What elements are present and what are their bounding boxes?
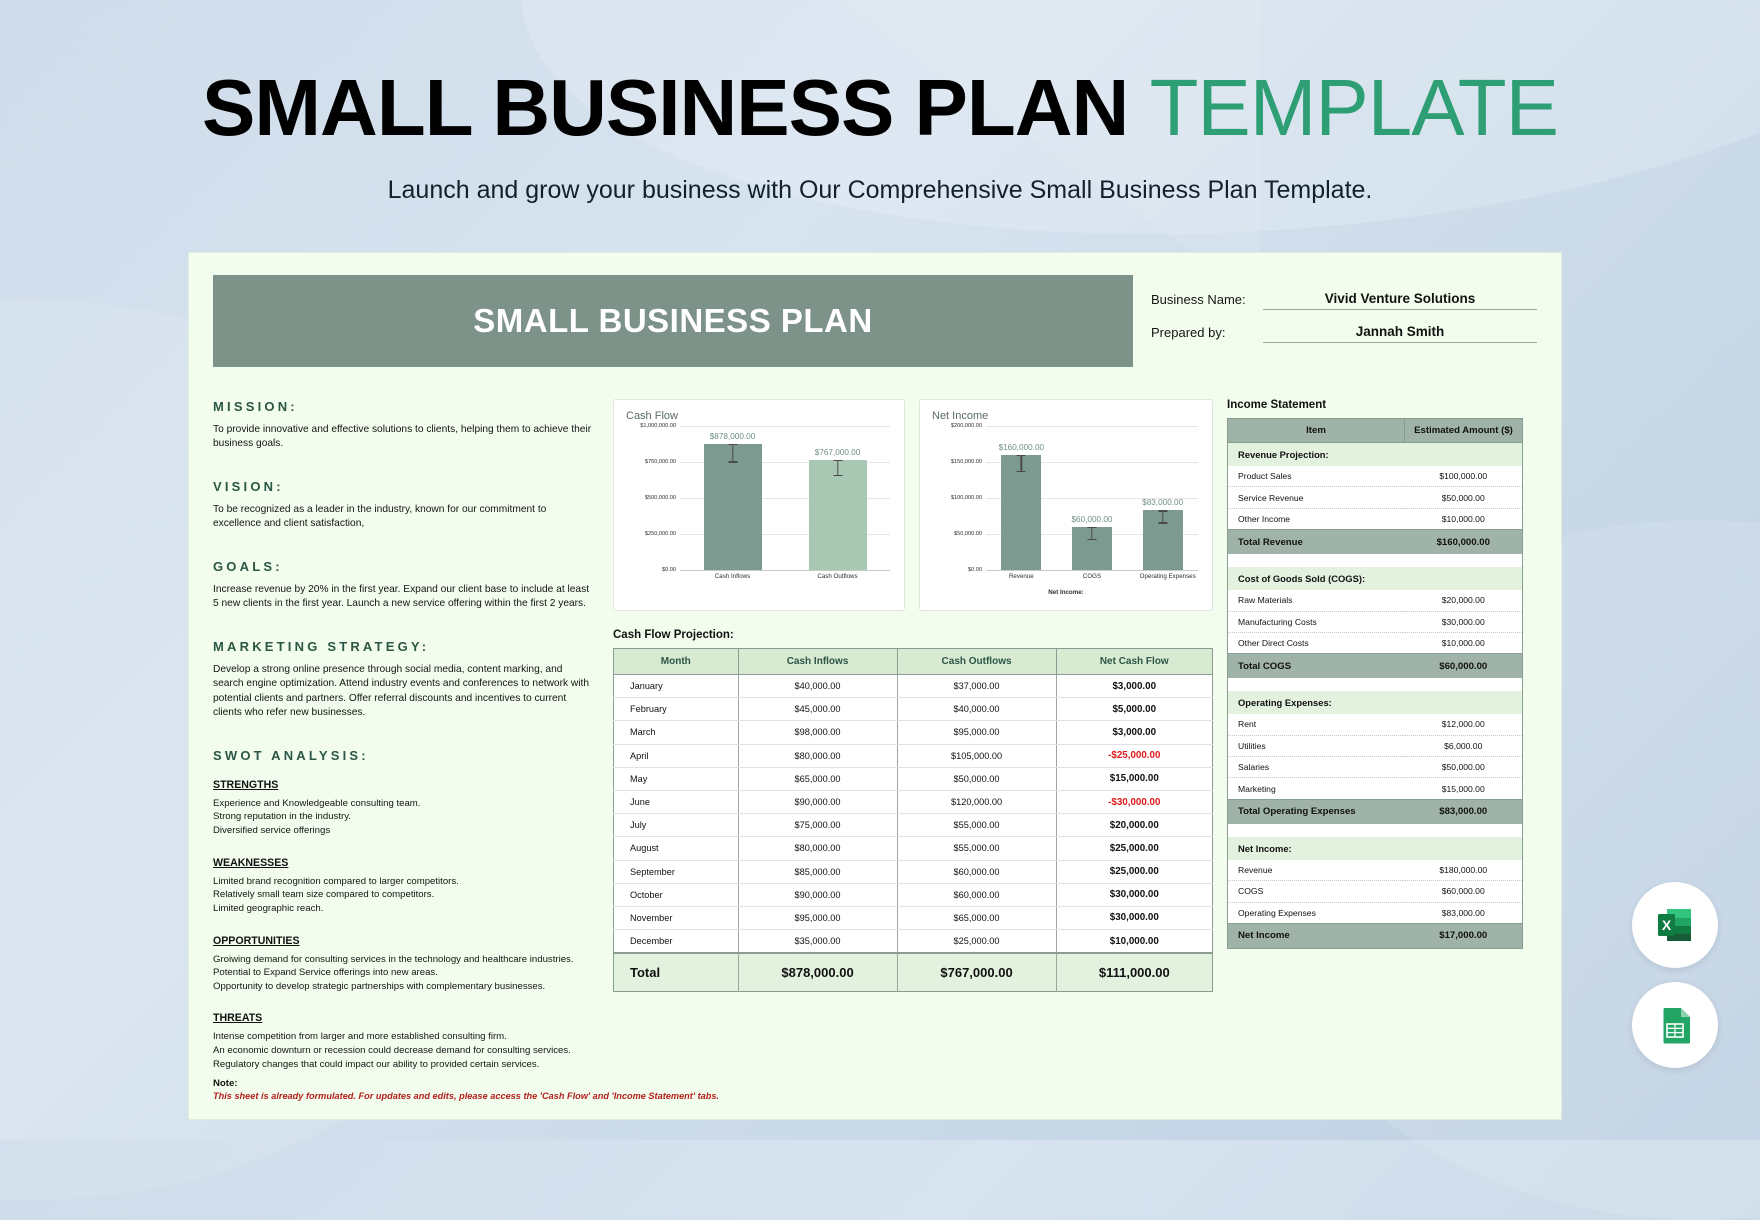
column-header-0: Month bbox=[614, 649, 739, 675]
row-label: Cost of Goods Sold (COGS): bbox=[1228, 567, 1523, 590]
x-axis-tick-label: Cash Inflows bbox=[704, 573, 762, 580]
bar-wrapper: $60,000.00 bbox=[1072, 426, 1112, 570]
row-amount: $50,000.00 bbox=[1405, 487, 1523, 508]
table-row[interactable]: Other Direct Costs$10,000.00 bbox=[1228, 632, 1523, 653]
net-income-chart-xlabel: Net Income: bbox=[932, 589, 1200, 596]
row-label: Raw Materials bbox=[1228, 590, 1405, 611]
table-row[interactable]: February$45,000.00$40,000.00$5,000.00 bbox=[614, 698, 1213, 721]
table-row[interactable]: COGS$60,000.00 bbox=[1228, 881, 1523, 902]
row-amount: $10,000.00 bbox=[1405, 632, 1523, 653]
table-cell: $45,000.00 bbox=[738, 698, 897, 721]
sheets-icon bbox=[1653, 1003, 1697, 1047]
table-cell: $95,000.00 bbox=[897, 721, 1056, 744]
table-row[interactable]: Revenue$180,000.00 bbox=[1228, 860, 1523, 881]
row-amount: $30,000.00 bbox=[1405, 611, 1523, 632]
table-row[interactable]: June$90,000.00$120,000.00-$30,000.00 bbox=[614, 790, 1213, 813]
svg-text:X: X bbox=[1662, 917, 1672, 933]
y-axis-tick-label: $50,000.00 bbox=[954, 531, 982, 537]
table-row[interactable]: December$35,000.00$25,000.00$10,000.00 bbox=[614, 930, 1213, 954]
row-label: Revenue Projection: bbox=[1228, 443, 1523, 467]
swot-strengths-body: Experience and Knowledgeable consulting … bbox=[213, 797, 595, 838]
table-cell: $90,000.00 bbox=[738, 883, 897, 906]
row-label: Salaries bbox=[1228, 757, 1405, 778]
swot-weaknesses-heading: WEAKNESSES bbox=[213, 857, 595, 869]
spacer-row bbox=[1228, 824, 1523, 837]
x-axis-tick-label: Revenue bbox=[998, 573, 1044, 580]
spacer-cell bbox=[1228, 554, 1523, 567]
table-cell: $60,000.00 bbox=[897, 860, 1056, 883]
table-total-row: Total$878,000.00$767,000.00$111,000.00 bbox=[614, 953, 1213, 992]
bar-group: $878,000.00$767,000.00 bbox=[680, 426, 890, 570]
row-amount: $20,000.00 bbox=[1405, 590, 1523, 611]
row-label: Marketing bbox=[1228, 778, 1405, 799]
sheet-note: Note: This sheet is already formulated. … bbox=[213, 1078, 719, 1101]
table-cell: October bbox=[614, 883, 739, 906]
row-label: Net Income: bbox=[1228, 837, 1523, 860]
bar[interactable]: $160,000.00 bbox=[1001, 455, 1041, 570]
row-amount: $50,000.00 bbox=[1405, 757, 1523, 778]
row-amount: $160,000.00 bbox=[1405, 530, 1523, 555]
table-cell: $35,000.00 bbox=[738, 930, 897, 954]
spacer-cell bbox=[1228, 678, 1523, 691]
spacer-row bbox=[1228, 678, 1523, 691]
table-cell: September bbox=[614, 860, 739, 883]
table-cell: July bbox=[614, 814, 739, 837]
table-row[interactable]: April$80,000.00$105,000.00-$25,000.00 bbox=[614, 744, 1213, 767]
note-body: This sheet is already formulated. For up… bbox=[213, 1091, 719, 1101]
table-cell: April bbox=[614, 744, 739, 767]
table-cell: $20,000.00 bbox=[1056, 814, 1212, 837]
table-row[interactable]: Rent$12,000.00 bbox=[1228, 714, 1523, 735]
row-label: Product Sales bbox=[1228, 466, 1405, 487]
swot-threats-heading: THREATS bbox=[213, 1012, 595, 1024]
table-total-cell: $111,000.00 bbox=[1056, 953, 1212, 992]
error-bar-cap bbox=[1017, 471, 1026, 472]
bar-group: $160,000.00$60,000.00$83,000.00 bbox=[986, 426, 1198, 570]
table-cell: $105,000.00 bbox=[897, 744, 1056, 767]
group-row: Net Income: bbox=[1228, 837, 1523, 860]
spacer-row bbox=[1228, 554, 1523, 567]
table-row[interactable]: July$75,000.00$55,000.00$20,000.00 bbox=[614, 814, 1213, 837]
swot-weaknesses-body: Limited brand recognition compared to la… bbox=[213, 875, 595, 916]
y-axis-tick-label: $500,000.00 bbox=[645, 495, 676, 501]
income-statement-col-item: Item bbox=[1228, 419, 1405, 443]
table-row[interactable]: November$95,000.00$65,000.00$30,000.00 bbox=[614, 906, 1213, 929]
table-row[interactable]: Other Income$10,000.00 bbox=[1228, 508, 1523, 529]
row-label: COGS bbox=[1228, 881, 1405, 902]
bar-data-label: $160,000.00 bbox=[999, 443, 1045, 452]
note-heading: Note: bbox=[213, 1078, 719, 1089]
business-name-value[interactable]: Vivid Venture Solutions bbox=[1263, 291, 1537, 310]
error-bar-cap bbox=[833, 460, 842, 461]
income-statement-title: Income Statement bbox=[1227, 399, 1523, 411]
vision-body: To be recognized as a leader in the indu… bbox=[213, 503, 595, 532]
table-cell: $65,000.00 bbox=[738, 767, 897, 790]
error-bar-cap bbox=[728, 461, 737, 462]
charts-and-projection-column: Cash Flow $0.00$250,000.00$500,000.00$75… bbox=[613, 399, 1213, 1090]
y-axis-tick-label: $1,000,000.00 bbox=[640, 423, 676, 429]
error-bar-cap bbox=[1158, 522, 1167, 523]
table-row[interactable]: Operating Expenses$83,000.00 bbox=[1228, 902, 1523, 923]
table-cell: November bbox=[614, 906, 739, 929]
table-total-cell: Total bbox=[614, 953, 739, 992]
table-cell: $30,000.00 bbox=[1056, 883, 1212, 906]
meta-row-prepared-by: Prepared by: Jannah Smith bbox=[1151, 324, 1537, 343]
group-row: Cost of Goods Sold (COGS): bbox=[1228, 567, 1523, 590]
cash-flow-projection-title: Cash Flow Projection: bbox=[613, 629, 1213, 641]
total-row: Total COGS$60,000.00 bbox=[1228, 654, 1523, 679]
table-row[interactable]: January$40,000.00$37,000.00$3,000.00 bbox=[614, 675, 1213, 698]
table-row[interactable]: Service Revenue$50,000.00 bbox=[1228, 487, 1523, 508]
swot-strengths-heading: STRENGTHS bbox=[213, 779, 595, 791]
row-label: Operating Expenses: bbox=[1228, 691, 1523, 714]
bar-wrapper: $83,000.00 bbox=[1143, 426, 1183, 570]
table-total-cell: $878,000.00 bbox=[738, 953, 897, 992]
error-bar-cap bbox=[1087, 539, 1096, 540]
bar-data-label: $60,000.00 bbox=[1071, 515, 1112, 524]
row-label: Revenue bbox=[1228, 860, 1405, 881]
error-bar-cap bbox=[1158, 510, 1167, 511]
excel-icon: X bbox=[1653, 903, 1697, 947]
table-cell: August bbox=[614, 837, 739, 860]
row-label: Other Direct Costs bbox=[1228, 632, 1405, 653]
cash-flow-chart-title: Cash Flow bbox=[626, 410, 892, 422]
table-cell: $85,000.00 bbox=[738, 860, 897, 883]
error-bar bbox=[732, 444, 733, 462]
error-bar bbox=[837, 460, 838, 475]
banner-title-accent: TEMPLATE bbox=[1150, 63, 1558, 152]
business-name-label: Business Name: bbox=[1151, 292, 1263, 310]
row-label: Operating Expenses bbox=[1228, 902, 1405, 923]
error-bar bbox=[1021, 455, 1022, 471]
excel-icon-button[interactable]: X bbox=[1632, 882, 1718, 968]
error-bar bbox=[1091, 527, 1092, 539]
row-amount: $10,000.00 bbox=[1405, 508, 1523, 529]
table-cell: December bbox=[614, 930, 739, 954]
table-row[interactable]: Product Sales$100,000.00 bbox=[1228, 466, 1523, 487]
row-label: Other Income bbox=[1228, 508, 1405, 529]
table-row[interactable]: May$65,000.00$50,000.00$15,000.00 bbox=[614, 767, 1213, 790]
banner-title: SMALL BUSINESS PLAN TEMPLATE bbox=[0, 68, 1760, 148]
swot-analysis-title: SWOT ANALYSIS: bbox=[213, 748, 595, 763]
table-cell: $55,000.00 bbox=[897, 837, 1056, 860]
table-cell: $3,000.00 bbox=[1056, 721, 1212, 744]
total-row: Total Revenue$160,000.00 bbox=[1228, 530, 1523, 555]
bar[interactable]: $878,000.00 bbox=[704, 444, 762, 570]
y-axis-tick-label: $150,000.00 bbox=[951, 459, 982, 465]
table-cell: $40,000.00 bbox=[738, 675, 897, 698]
y-axis-tick-label: $100,000.00 bbox=[951, 495, 982, 501]
bar[interactable]: $767,000.00 bbox=[809, 460, 867, 570]
bar-wrapper: $767,000.00 bbox=[809, 426, 867, 570]
y-axis-tick-label: $0.00 bbox=[662, 567, 676, 573]
table-cell: $80,000.00 bbox=[738, 837, 897, 860]
table-cell: $80,000.00 bbox=[738, 744, 897, 767]
prepared-by-value[interactable]: Jannah Smith bbox=[1263, 324, 1537, 343]
table-cell: $50,000.00 bbox=[897, 767, 1056, 790]
row-label: Total Operating Expenses bbox=[1228, 799, 1405, 824]
table-cell: $10,000.00 bbox=[1056, 930, 1212, 954]
error-bar-cap bbox=[833, 475, 842, 476]
row-label: Total Revenue bbox=[1228, 530, 1405, 555]
row-amount: $12,000.00 bbox=[1405, 714, 1523, 735]
y-axis-tick-label: $750,000.00 bbox=[645, 459, 676, 465]
table-row[interactable]: October$90,000.00$60,000.00$30,000.00 bbox=[614, 883, 1213, 906]
table-cell: $40,000.00 bbox=[897, 698, 1056, 721]
row-amount: $17,000.00 bbox=[1405, 923, 1523, 948]
row-amount: $6,000.00 bbox=[1405, 735, 1523, 756]
table-row[interactable]: Marketing$15,000.00 bbox=[1228, 778, 1523, 799]
table-cell: $30,000.00 bbox=[1056, 906, 1212, 929]
row-label: Net Income bbox=[1228, 923, 1405, 948]
row-label: Rent bbox=[1228, 714, 1405, 735]
table-cell: $25,000.00 bbox=[1056, 837, 1212, 860]
table-row[interactable]: Manufacturing Costs$30,000.00 bbox=[1228, 611, 1523, 632]
group-row: Operating Expenses: bbox=[1228, 691, 1523, 714]
row-label: Service Revenue bbox=[1228, 487, 1405, 508]
table-cell: $75,000.00 bbox=[738, 814, 897, 837]
spacer-cell bbox=[1228, 824, 1523, 837]
row-label: Total COGS bbox=[1228, 654, 1405, 679]
y-axis-tick-label: $250,000.00 bbox=[645, 531, 676, 537]
row-amount: $60,000.00 bbox=[1405, 654, 1523, 679]
table-cell: March bbox=[614, 721, 739, 744]
x-axis-tick-label: Operating Expenses bbox=[1140, 573, 1186, 580]
row-label: Manufacturing Costs bbox=[1228, 611, 1405, 632]
net-income-plot: $0.00$50,000.00$100,000.00$150,000.00$20… bbox=[932, 426, 1200, 588]
table-row[interactable]: March$98,000.00$95,000.00$3,000.00 bbox=[614, 721, 1213, 744]
table-cell: $120,000.00 bbox=[897, 790, 1056, 813]
column-header-3: Net Cash Flow bbox=[1056, 649, 1212, 675]
total-row: Total Operating Expenses$83,000.00 bbox=[1228, 799, 1523, 824]
income-statement-col-amount: Estimated Amount ($) bbox=[1405, 419, 1523, 443]
table-cell: -$30,000.00 bbox=[1056, 790, 1212, 813]
table-cell: February bbox=[614, 698, 739, 721]
cash-flow-projection-table: MonthCash InflowsCash OutflowsNet Cash F… bbox=[613, 648, 1213, 992]
error-bar-cap bbox=[1017, 455, 1026, 456]
net-income-chart: Net Income $0.00$50,000.00$100,000.00$15… bbox=[919, 399, 1213, 611]
sheets-icon-button[interactable] bbox=[1632, 982, 1718, 1068]
table-cell: June bbox=[614, 790, 739, 813]
table-cell: $98,000.00 bbox=[738, 721, 897, 744]
table-cell: $60,000.00 bbox=[897, 883, 1056, 906]
table-cell: $25,000.00 bbox=[1056, 860, 1212, 883]
document-meta: Business Name: Vivid Venture Solutions P… bbox=[1151, 275, 1537, 367]
group-row: Revenue Projection: bbox=[1228, 443, 1523, 467]
table-cell: $5,000.00 bbox=[1056, 698, 1212, 721]
meta-row-business-name: Business Name: Vivid Venture Solutions bbox=[1151, 291, 1537, 310]
table-cell: $37,000.00 bbox=[897, 675, 1056, 698]
marketing-strategy-body: Develop a strong online presence through… bbox=[213, 663, 595, 721]
error-bar-cap bbox=[728, 444, 737, 445]
cash-flow-plot: $0.00$250,000.00$500,000.00$750,000.00$1… bbox=[626, 426, 892, 588]
column-header-1: Cash Inflows bbox=[738, 649, 897, 675]
y-axis: $0.00$50,000.00$100,000.00$150,000.00$20… bbox=[932, 426, 986, 570]
page-title: SMALL BUSINESS PLAN bbox=[473, 302, 872, 340]
table-cell: $3,000.00 bbox=[1056, 675, 1212, 698]
net-income-chart-title: Net Income bbox=[932, 410, 1200, 422]
table-header-row: MonthCash InflowsCash OutflowsNet Cash F… bbox=[614, 649, 1213, 675]
document-header: SMALL BUSINESS PLAN Business Name: Vivid… bbox=[213, 275, 1537, 367]
x-axis: RevenueCOGSOperating Expenses bbox=[986, 570, 1198, 588]
row-amount: $15,000.00 bbox=[1405, 778, 1523, 799]
y-axis: $0.00$250,000.00$500,000.00$750,000.00$1… bbox=[626, 426, 680, 570]
table-cell: January bbox=[614, 675, 739, 698]
mission-title: MISSION: bbox=[213, 399, 595, 414]
swot-threats-body: Intense competition from larger and more… bbox=[213, 1030, 595, 1071]
goals-body: Increase revenue by 20% in the first yea… bbox=[213, 583, 595, 612]
error-bar-cap bbox=[1087, 527, 1096, 528]
cash-flow-chart: Cash Flow $0.00$250,000.00$500,000.00$75… bbox=[613, 399, 905, 611]
table-cell: $65,000.00 bbox=[897, 906, 1056, 929]
x-axis: Cash InflowsCash Outflows bbox=[680, 570, 890, 588]
table-cell: $95,000.00 bbox=[738, 906, 897, 929]
narrative-column: MISSION: To provide innovative and effec… bbox=[213, 399, 613, 1090]
table-cell: -$25,000.00 bbox=[1056, 744, 1212, 767]
table-total-cell: $767,000.00 bbox=[897, 953, 1056, 992]
total-row: Net Income$17,000.00 bbox=[1228, 923, 1523, 948]
swot-opportunities-heading: OPPORTUNITIES bbox=[213, 935, 595, 947]
error-bar bbox=[1162, 510, 1163, 522]
income-statement-column: Income Statement Item Estimated Amount (… bbox=[1213, 399, 1523, 1090]
table-row[interactable]: September$85,000.00$60,000.00$25,000.00 bbox=[614, 860, 1213, 883]
table-cell: $55,000.00 bbox=[897, 814, 1056, 837]
document-title-box: SMALL BUSINESS PLAN bbox=[213, 275, 1133, 367]
row-amount: $60,000.00 bbox=[1405, 881, 1523, 902]
row-amount: $83,000.00 bbox=[1405, 902, 1523, 923]
promo-banner: SMALL BUSINESS PLAN TEMPLATE Launch and … bbox=[0, 0, 1760, 205]
row-amount: $83,000.00 bbox=[1405, 799, 1523, 824]
table-row[interactable]: August$80,000.00$55,000.00$25,000.00 bbox=[614, 837, 1213, 860]
bar-wrapper: $878,000.00 bbox=[704, 426, 762, 570]
bar[interactable]: $83,000.00 bbox=[1143, 510, 1183, 570]
bar-data-label: $83,000.00 bbox=[1142, 498, 1183, 507]
x-axis-tick-label: Cash Outflows bbox=[809, 573, 867, 580]
vision-title: VISION: bbox=[213, 479, 595, 494]
table-cell: May bbox=[614, 767, 739, 790]
goals-title: GOALS: bbox=[213, 559, 595, 574]
row-amount: $100,000.00 bbox=[1405, 466, 1523, 487]
table-cell: $15,000.00 bbox=[1056, 767, 1212, 790]
income-statement-table: Item Estimated Amount ($) Revenue Projec… bbox=[1227, 418, 1523, 949]
table-cell: $90,000.00 bbox=[738, 790, 897, 813]
table-row[interactable]: Salaries$50,000.00 bbox=[1228, 757, 1523, 778]
y-axis-tick-label: $0.00 bbox=[968, 567, 982, 573]
bar-data-label: $767,000.00 bbox=[815, 448, 861, 457]
bar[interactable]: $60,000.00 bbox=[1072, 527, 1112, 570]
table-cell: $25,000.00 bbox=[897, 930, 1056, 954]
bar-wrapper: $160,000.00 bbox=[1001, 426, 1041, 570]
table-row[interactable]: Utilities$6,000.00 bbox=[1228, 735, 1523, 756]
row-label: Utilities bbox=[1228, 735, 1405, 756]
mission-body: To provide innovative and effective solu… bbox=[213, 423, 595, 452]
table-row[interactable]: Raw Materials$20,000.00 bbox=[1228, 590, 1523, 611]
banner-subtitle: Launch and grow your business with Our C… bbox=[0, 176, 1760, 205]
swot-opportunities-body: Groiwing demand for consulting services … bbox=[213, 953, 595, 994]
bar-data-label: $878,000.00 bbox=[710, 432, 756, 441]
spreadsheet-sheet: SMALL BUSINESS PLAN Business Name: Vivid… bbox=[188, 252, 1562, 1120]
column-header-2: Cash Outflows bbox=[897, 649, 1056, 675]
banner-title-main: SMALL BUSINESS PLAN bbox=[202, 63, 1128, 152]
app-format-icons: X bbox=[1632, 882, 1718, 1082]
x-axis-tick-label: COGS bbox=[1069, 573, 1115, 580]
y-axis-tick-label: $200,000.00 bbox=[951, 423, 982, 429]
marketing-strategy-title: MARKETING STRATEGY: bbox=[213, 639, 595, 654]
row-amount: $180,000.00 bbox=[1405, 860, 1523, 881]
prepared-by-label: Prepared by: bbox=[1151, 325, 1263, 343]
